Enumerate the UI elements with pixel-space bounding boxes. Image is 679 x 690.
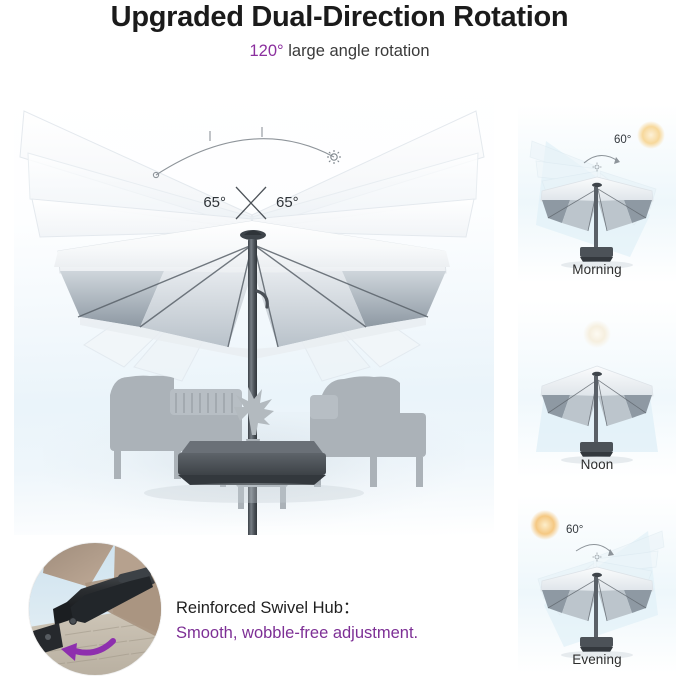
scene-illustration: 65° 65° [14,95,494,535]
panel-morning[interactable]: 60° Morning [518,105,676,283]
hub-caption: Reinforced Swivel Hub： Smooth, wobble-fr… [176,596,606,646]
panel-evening-label: Evening [518,652,676,667]
angle-label-right: 65° [276,194,299,211]
panel-morning-label: Morning [518,262,676,277]
rotation-arc-group [153,127,341,178]
caption-line-2: Smooth, wobble-free adjustment. [176,621,606,646]
caption-line-1: Reinforced Swivel Hub： [176,596,606,621]
page-subtitle: 120° large angle rotation [0,40,679,62]
sun-icon [530,510,560,540]
infographic-page: Upgraded Dual-Direction Rotation 120° la… [0,0,679,690]
panel-noon-illustration [518,300,676,478]
umbrella-base [178,441,326,485]
angle-label-left: 65° [203,194,226,211]
panel-morning-illustration: 60° [518,105,676,283]
subtitle-text: large angle rotation [284,42,430,60]
swivel-hub-inset [29,543,161,675]
panel-evening-illustration: 60° [518,495,676,673]
sun-icon [583,320,611,348]
subtitle-degrees: 120° [250,42,284,60]
panel-evening[interactable]: 60° Evening [518,495,676,673]
panel-noon-label: Noon [518,457,676,472]
page-title: Upgraded Dual-Direction Rotation [0,0,679,34]
ghost-canopy-group-upper [20,111,484,237]
panel-noon[interactable]: Noon [518,300,676,478]
header: Upgraded Dual-Direction Rotation 120° la… [0,0,679,80]
panel-morning-angle: 60° [614,134,631,146]
swivel-hub-photo [29,543,161,675]
main-rotation-scene: 65° 65° [14,95,494,535]
sun-icon [637,121,665,149]
panel-evening-angle: 60° [566,524,583,536]
